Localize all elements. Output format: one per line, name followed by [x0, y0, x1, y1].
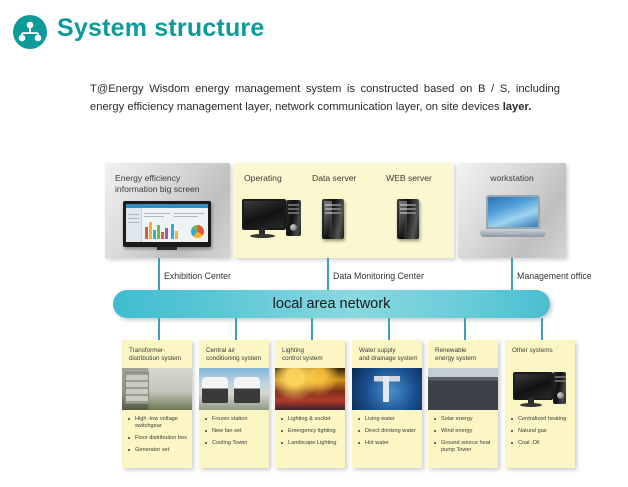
- connector-exhibition: [158, 258, 160, 290]
- intro-paragraph: T@Energy Wisdom energy management system…: [90, 80, 560, 116]
- tier-label-management-office: Management office: [517, 271, 592, 281]
- connector-card-3: [311, 318, 313, 340]
- local-area-network-bar[interactable]: local area network: [113, 290, 550, 318]
- card-title: Other systems: [512, 347, 571, 355]
- network-hierarchy-icon: [12, 14, 48, 50]
- top-tier: Energy efficiency information big screen: [0, 155, 628, 263]
- tier-label-data-monitoring-center: Data Monitoring Center: [333, 271, 424, 281]
- connector-card-5: [464, 318, 466, 340]
- card-item-list: Lighting & socket Emergency lighting Lan…: [281, 416, 342, 452]
- card-renewable-energy-system[interactable]: Renewable energy system Solar energy Win…: [428, 340, 498, 468]
- card-item-list: Frozen station New fan set Cooling Tower: [205, 416, 266, 452]
- connector-card-6: [541, 318, 543, 340]
- connector-data-monitoring: [327, 258, 329, 290]
- card-lighting-control-system[interactable]: Lighting control system Lighting & socke…: [275, 340, 345, 468]
- box-energy-efficiency-big-screen[interactable]: Energy efficiency information big screen: [105, 163, 230, 258]
- box-label: Energy efficiency information big screen: [115, 173, 200, 195]
- system-structure-diagram: Energy efficiency information big screen: [0, 155, 628, 487]
- list-item: Lighting & socket: [281, 416, 342, 423]
- page-header: System structure: [0, 0, 628, 62]
- solar-panel-array-photo: [428, 368, 498, 410]
- page-title: System structure: [57, 14, 264, 43]
- list-item: Frozen station: [205, 416, 266, 423]
- list-item: Ground source heat pump Tower: [434, 440, 495, 454]
- connector-card-1: [158, 318, 160, 340]
- server-tower-icon-web: [397, 199, 421, 241]
- subsystem-card-row: Transformer- distribution system High -l…: [0, 340, 628, 475]
- box-label-web-server: WEB server: [386, 173, 432, 184]
- box-workstation[interactable]: workstation: [458, 163, 566, 258]
- card-item-list: Solar energy Wind energy Ground source h…: [434, 416, 495, 459]
- list-item: Hot water: [358, 440, 419, 447]
- local-area-network-label: local area network: [113, 290, 550, 318]
- connector-management-office: [511, 258, 513, 290]
- big-screen-display-icon: [123, 201, 213, 251]
- card-title: Transformer- distribution system: [129, 347, 188, 363]
- list-item: Generator set: [128, 447, 189, 454]
- list-item: Wind energy: [434, 428, 495, 435]
- list-item: Natural gas: [511, 428, 572, 435]
- box-label: workstation: [458, 173, 566, 184]
- card-title: Renewable energy system: [435, 347, 494, 363]
- list-item: High -low voltage switchgear: [128, 416, 189, 430]
- list-item: Solar energy: [434, 416, 495, 423]
- hvac-chiller-photo: [199, 368, 269, 410]
- card-item-list: Living water Direct drinking water Hot w…: [358, 416, 419, 452]
- laptop-icon: [480, 195, 546, 245]
- desktop-computer-icon: [505, 368, 575, 410]
- intro-text: T@Energy Wisdom energy management system…: [90, 83, 560, 113]
- server-tower-icon-data: [322, 199, 346, 241]
- list-item: Direct drinking water: [358, 428, 419, 435]
- list-item: Landscape Lighting: [281, 440, 342, 447]
- card-other-systems[interactable]: Other systems Central: [505, 340, 575, 468]
- list-item: Emergency lighting: [281, 428, 342, 435]
- connector-card-2: [235, 318, 237, 340]
- intro-text-tail: layer.: [503, 101, 532, 113]
- card-item-list: High -low voltage switchgear Floor distr…: [128, 416, 189, 459]
- connector-card-4: [388, 318, 390, 340]
- interior-lighting-photo: [275, 368, 345, 410]
- list-item: Living water: [358, 416, 419, 423]
- card-item-list: Centralized heating Natural gas Coal ,Oi…: [511, 416, 572, 452]
- card-title: Lighting control system: [282, 347, 341, 363]
- list-item: New fan set: [205, 428, 266, 435]
- card-central-air-conditioning-system[interactable]: Central air conditioning system Frozen s…: [199, 340, 269, 468]
- list-item: Coal ,Oil: [511, 440, 572, 447]
- card-title: Central air conditioning system: [206, 347, 265, 363]
- tier-label-exhibition-center: Exhibition Center: [164, 271, 231, 281]
- water-faucet-photo: [352, 368, 422, 410]
- desktop-computer-icon: [242, 197, 304, 243]
- card-transformer-distribution-system[interactable]: Transformer- distribution system High -l…: [122, 340, 192, 468]
- box-label-operating: Operating: [244, 173, 282, 184]
- switchgear-room-photo: [122, 368, 192, 410]
- card-title: Water supply and drainage system: [359, 347, 418, 363]
- box-label-data-server: Data server: [312, 173, 356, 184]
- card-water-supply-and-drainage-system[interactable]: Water supply and drainage system Living …: [352, 340, 422, 468]
- list-item: Centralized heating: [511, 416, 572, 423]
- list-item: Cooling Tower: [205, 440, 266, 447]
- list-item: Floor distribution box: [128, 435, 189, 442]
- box-data-monitoring-center[interactable]: Operating Data server WEB server: [234, 163, 454, 258]
